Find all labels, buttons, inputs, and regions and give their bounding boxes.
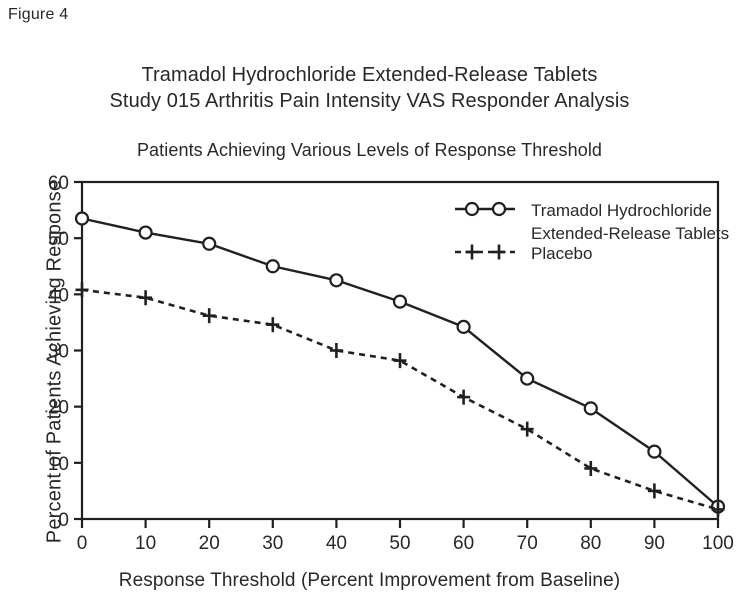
data-point-marker-circle [585, 402, 597, 414]
data-point-marker-cross [203, 308, 216, 323]
y-axis-tick-label: 50 [48, 229, 69, 250]
data-point-marker-cross [394, 353, 407, 368]
x-axis-tick-label: 40 [326, 533, 347, 554]
legend-label-0-line1: Tramadol Hydrochloride [531, 201, 712, 220]
y-axis-tick-label: 30 [48, 342, 69, 363]
data-point-marker-circle [521, 373, 533, 385]
legend-label-0-line2: Extended-Release Tablets [531, 224, 729, 243]
data-point-marker-circle [648, 446, 660, 458]
data-point-marker-cross [648, 483, 661, 498]
x-axis-tick-label: 90 [644, 533, 665, 554]
data-point-marker-circle [140, 227, 152, 239]
y-axis-tick-label: 60 [48, 173, 69, 194]
data-point-marker-cross [457, 390, 470, 405]
x-axis-tick-label: 50 [389, 533, 410, 554]
legend-label-1-line1: Placebo [531, 244, 592, 263]
data-point-marker-cross [584, 461, 597, 476]
x-axis-tick-label: 80 [580, 533, 601, 554]
x-axis-tick-label: 20 [199, 533, 220, 554]
data-point-marker-circle [330, 274, 342, 286]
data-point-marker-cross [139, 290, 152, 305]
x-axis-tick-label: 70 [517, 533, 538, 554]
legend-marker-circle [493, 203, 505, 215]
x-axis-tick-label: 100 [702, 533, 734, 554]
legend-marker-circle [466, 203, 478, 215]
data-point-marker-cross [521, 422, 534, 437]
data-point-marker-circle [458, 321, 470, 333]
x-axis-tick-label: 0 [77, 533, 88, 554]
data-point-marker-circle [203, 238, 215, 250]
data-point-marker-cross [266, 317, 279, 332]
series-line-1 [82, 290, 718, 510]
y-axis-tick-label: 40 [48, 285, 69, 306]
data-point-marker-circle [267, 260, 279, 272]
y-axis-tick-label: 0 [58, 510, 69, 531]
x-axis-tick-label: 10 [135, 533, 156, 554]
chart-plot-area: 01020304050600102030405060708090100Trama… [0, 0, 739, 615]
y-axis-tick-label: 20 [48, 398, 69, 419]
x-axis-tick-label: 60 [453, 533, 474, 554]
data-point-marker-cross [330, 343, 343, 358]
y-axis-tick-label: 10 [48, 454, 69, 475]
data-point-marker-circle [76, 213, 88, 225]
data-point-marker-circle [394, 296, 406, 308]
x-axis-tick-label: 30 [262, 533, 283, 554]
